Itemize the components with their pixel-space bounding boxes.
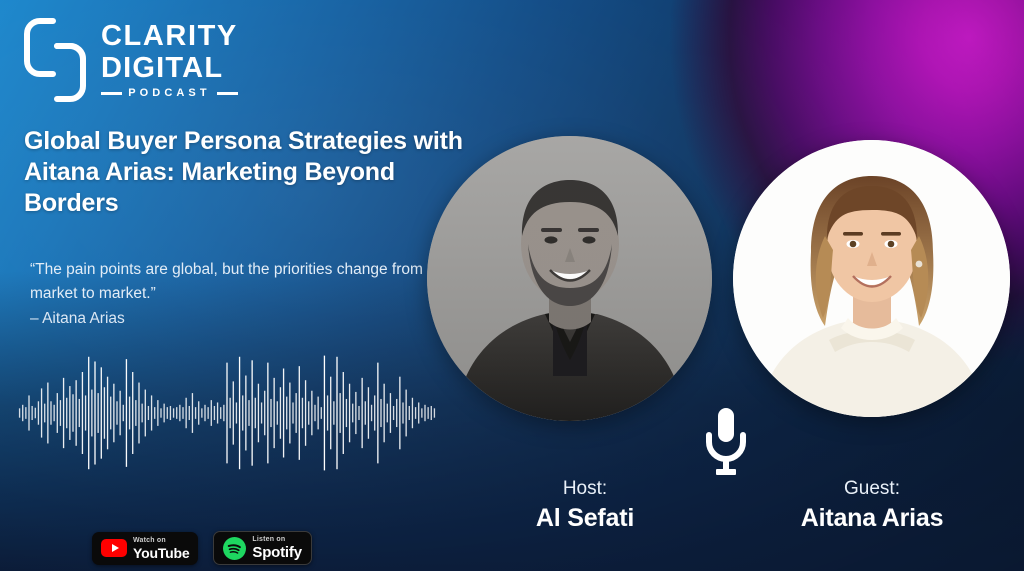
brand-logo: CLARITY DIGITAL PODCAST: [22, 16, 238, 104]
youtube-badge-large: YouTube: [133, 546, 189, 560]
spotify-icon: [223, 537, 246, 560]
youtube-badge[interactable]: Watch on YouTube: [92, 532, 198, 565]
divider-right: [217, 92, 238, 95]
brand-line-digital: DIGITAL: [101, 54, 238, 83]
brand-podcast-row: PODCAST: [101, 88, 238, 99]
episode-quote-text: “The pain points are global, but the pri…: [30, 261, 423, 302]
spotify-badge-large: Spotify: [252, 545, 301, 560]
brand-line-podcast: PODCAST: [128, 88, 210, 99]
youtube-icon: [101, 539, 127, 557]
spotify-badge[interactable]: Listen on Spotify: [213, 531, 311, 565]
clarity-microphone-monogram-icon: [22, 16, 88, 104]
guest-portrait: [733, 140, 1010, 417]
youtube-badge-small: Watch on: [133, 537, 189, 544]
brand-line-clarity: CLARITY: [101, 22, 238, 51]
youtube-badge-text: Watch on YouTube: [133, 537, 189, 560]
platform-badges: Watch on YouTube Listen on Spotify: [92, 531, 312, 565]
host-portrait: [427, 136, 712, 421]
guest-name: Aitana Arias: [757, 503, 987, 533]
spotify-badge-small: Listen on: [252, 536, 301, 543]
host-role-label: Host:: [460, 478, 710, 501]
spotify-badge-text: Listen on Spotify: [252, 536, 301, 560]
guest-photo: [733, 140, 1010, 417]
divider-left: [101, 92, 122, 95]
host-credit: Host: Al Sefati: [460, 478, 710, 533]
microphone-icon: [700, 406, 752, 478]
podcast-episode-graphic: CLARITY DIGITAL PODCAST Global Buyer Per…: [0, 0, 1024, 571]
brand-wordmark: CLARITY DIGITAL PODCAST: [101, 22, 238, 99]
episode-title: Global Buyer Persona Strategies with Ait…: [24, 126, 476, 218]
guest-credit: Guest: Aitana Arias: [757, 478, 987, 533]
episode-quote-block: “The pain points are global, but the pri…: [30, 258, 430, 331]
episode-quote-attribution: – Aitana Arias: [30, 310, 125, 327]
guest-role-label: Guest:: [757, 478, 987, 501]
host-name: Al Sefati: [460, 503, 710, 533]
host-photo: [427, 136, 712, 421]
audio-waveform: [18, 352, 436, 474]
